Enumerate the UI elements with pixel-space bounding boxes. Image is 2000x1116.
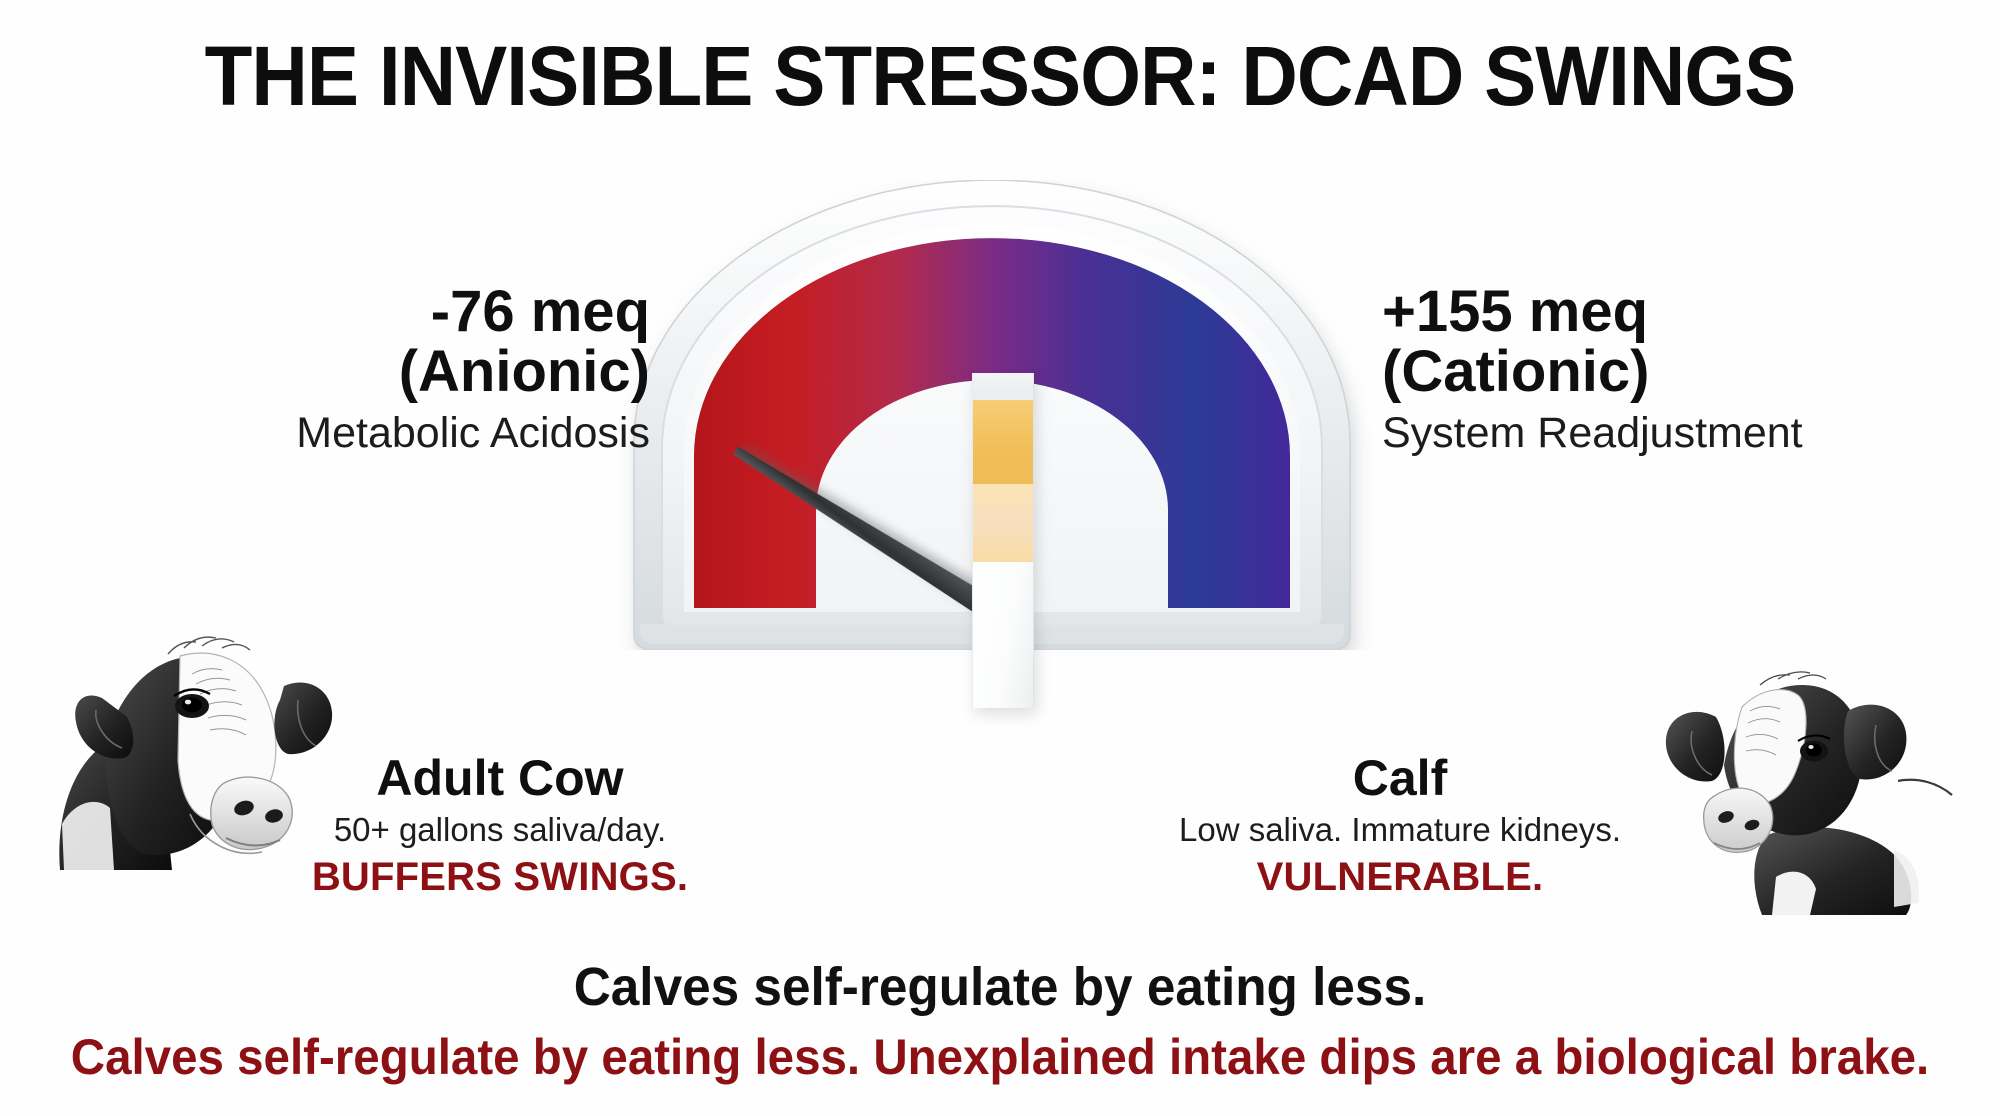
dcad-test-strip <box>972 373 1034 708</box>
strip-band-light <box>973 484 1033 562</box>
footer-subline: Calves self-regulate by eating less. Une… <box>50 1028 1950 1086</box>
cationic-type: (Cationic) <box>1382 342 1942 402</box>
anionic-description: Metabolic Acidosis <box>150 409 650 458</box>
calf-title: Calf <box>1130 752 1670 805</box>
strip-cap <box>973 373 1033 400</box>
footer-headline: Calves self-regulate by eating less. <box>50 956 1950 1018</box>
cationic-label-group: +155 meq (Cationic) System Readjustment <box>1382 282 1942 458</box>
infographic-canvas: THE INVISIBLE STRESSOR: DCAD SWINGS <box>0 0 2000 1116</box>
anionic-type: (Anionic) <box>150 342 650 402</box>
calf-illustration <box>1650 645 1960 915</box>
cationic-value: +155 meq <box>1382 282 1942 342</box>
adult-cow-text-group: Adult Cow 50+ gallons saliva/day. BUFFER… <box>250 752 750 900</box>
strip-band-dark <box>973 400 1033 484</box>
calf-description: Low saliva. Immature kidneys. <box>1130 811 1670 849</box>
adult-cow-description: 50+ gallons saliva/day. <box>250 811 750 849</box>
adult-cow-verdict: BUFFERS SWINGS. <box>250 855 750 900</box>
cationic-description: System Readjustment <box>1382 409 1942 458</box>
calf-verdict: VULNERABLE. <box>1130 855 1670 900</box>
adult-cow-title: Adult Cow <box>250 752 750 805</box>
anionic-label-group: -76 meq (Anionic) Metabolic Acidosis <box>150 282 650 458</box>
page-title: THE INVISIBLE STRESSOR: DCAD SWINGS <box>70 28 1930 125</box>
anionic-value: -76 meq <box>150 282 650 342</box>
calf-text-group: Calf Low saliva. Immature kidneys. VULNE… <box>1130 752 1670 900</box>
